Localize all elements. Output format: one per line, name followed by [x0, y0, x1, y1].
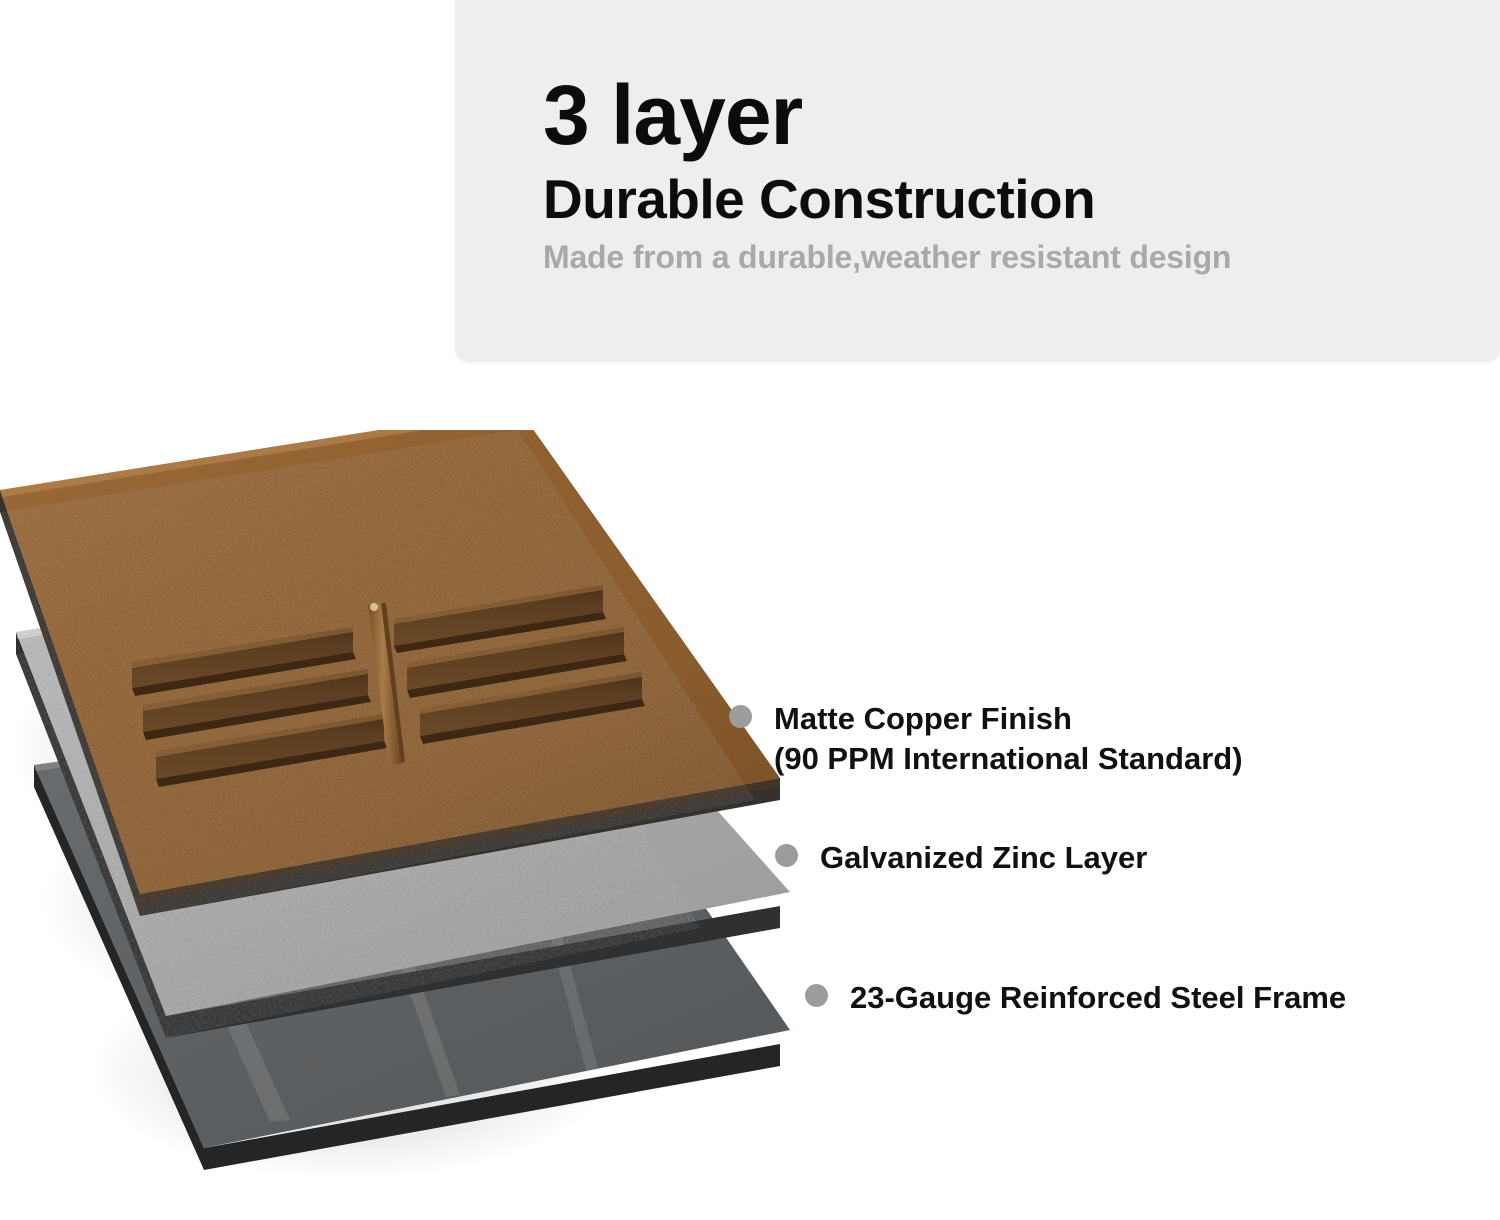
infographic-canvas: 3 layer Durable Construction Made from a…	[0, 0, 1500, 1216]
bullet-icon	[729, 705, 752, 728]
callout-galvanized-zinc: Galvanized Zinc Layer	[775, 838, 1147, 878]
header-text-block: 3 layer Durable Construction Made from a…	[543, 76, 1473, 273]
header-panel: 3 layer Durable Construction Made from a…	[455, 0, 1500, 362]
callout-line-2: (90 PPM International Standard)	[774, 741, 1243, 776]
bullet-icon	[805, 984, 828, 1007]
callout-galvanized-zinc-label: Galvanized Zinc Layer	[820, 838, 1147, 878]
page-title: 3 layer	[543, 76, 1473, 156]
callout-steel-frame: 23-Gauge Reinforced Steel Frame	[805, 978, 1346, 1018]
product-layers-illustration	[0, 430, 790, 1220]
page-subtitle: Durable Construction	[543, 172, 1473, 227]
callout-matte-copper: Matte Copper Finish(90 PPM International…	[729, 699, 1243, 778]
callout-matte-copper-label: Matte Copper Finish(90 PPM International…	[774, 699, 1243, 778]
bullet-icon	[775, 844, 798, 867]
callout-line-1: Matte Copper Finish	[774, 701, 1072, 736]
page-tagline: Made from a durable,weather resistant de…	[543, 241, 1473, 273]
callout-steel-frame-label: 23-Gauge Reinforced Steel Frame	[850, 978, 1346, 1018]
